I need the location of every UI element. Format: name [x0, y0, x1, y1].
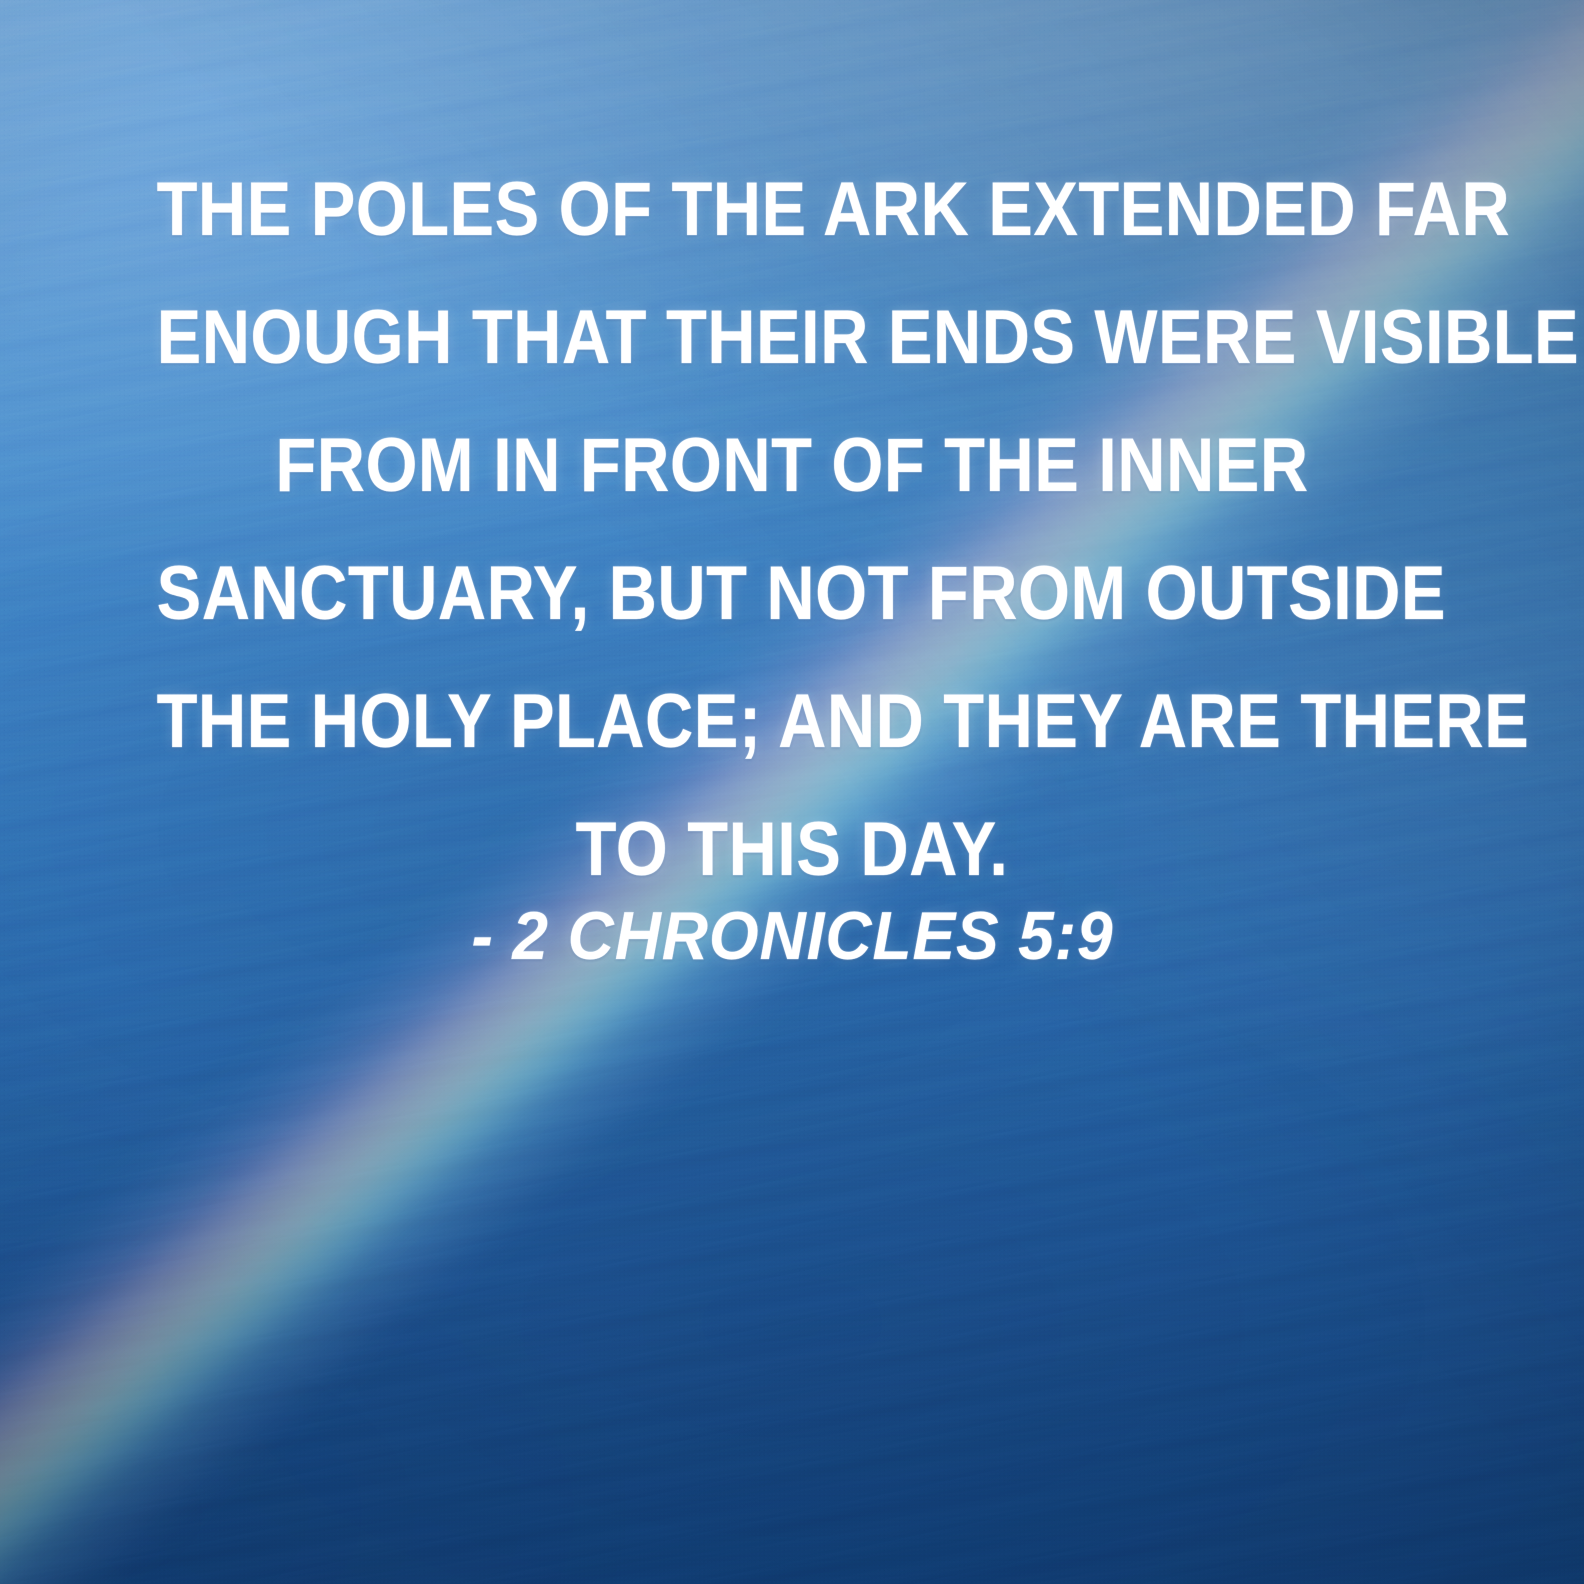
verse-line-1: THE POLES OF THE ARK EXTENDED FAR	[157, 146, 1428, 274]
verse-line-5: THE HOLY PLACE; AND THEY ARE THERE	[157, 658, 1428, 786]
verse-line-2: ENOUGH THAT THEIR ENDS WERE VISIBLE	[157, 274, 1428, 402]
attribution-text: - 2 CHRONICLES 5:9	[471, 890, 1113, 982]
verse-line-3: FROM IN FRONT OF THE INNER	[157, 402, 1428, 530]
scripture-image-canvas: THE POLES OF THE ARK EXTENDED FAR ENOUGH…	[0, 0, 1584, 1584]
verse-attribution: - 2 CHRONICLES 5:9	[0, 890, 1584, 982]
verse-text-block: THE POLES OF THE ARK EXTENDED FAR ENOUGH…	[0, 146, 1584, 914]
verse-line-4: SANCTUARY, BUT NOT FROM OUTSIDE	[157, 530, 1428, 658]
